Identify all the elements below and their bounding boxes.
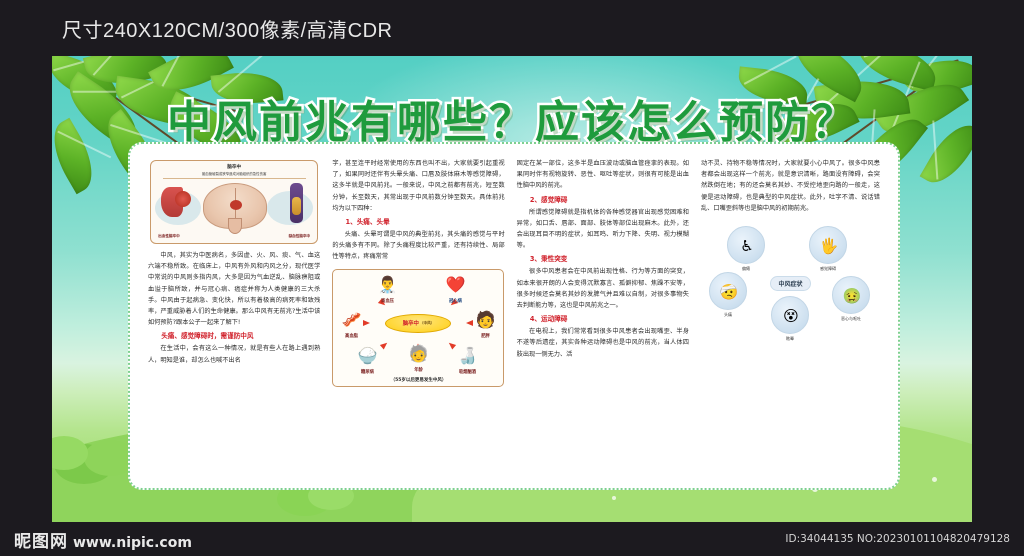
risk-node-label: 冠心病	[435, 298, 475, 304]
site-brand: 昵图网 www.nipic.com	[14, 527, 192, 552]
brain-icon	[203, 183, 267, 229]
brain-diagram-title: 脑卒中	[151, 164, 317, 170]
body-paragraph: 中风，其实为中医病名，多因虚、火、风、痰、气、血这六端不稳所致。在临床上，中风有…	[148, 250, 320, 328]
sparkle-dot	[612, 496, 616, 500]
dizzy-person-icon: 😵	[772, 297, 810, 335]
brain-label-right: 缺血性脑卒中	[289, 234, 311, 239]
heart-icon: ❤️	[440, 273, 470, 297]
risk-center-text: 脑卒中	[403, 319, 419, 327]
risk-node-hyperlipidemia: 🥓 高血脂	[332, 308, 371, 339]
symptom-circle: 🖐	[809, 226, 847, 264]
obese-person-icon: 🧑	[470, 308, 500, 332]
section-heading: 4、运动障碍	[517, 313, 689, 326]
headache-person-icon: 🤕	[710, 273, 748, 311]
symptom-label: 头痛	[705, 312, 751, 318]
risk-factor-diagram: 脑卒中（中风） 👨‍⚕️ 高血压	[332, 269, 504, 387]
size-spec-caption: 尺寸240X120CM/300像素/高清CDR	[0, 0, 1024, 56]
cigarette-bottle-icon: 🍶	[452, 344, 482, 368]
risk-diagram-footnote: （55岁以后更易发生中风）	[333, 377, 503, 383]
body-paragraph: 在电视上，我们常常看到很多中风患者会出现嘴歪、半身不遂等后遗症，其实各种运动障碍…	[517, 326, 689, 360]
risk-node-label: 肥胖	[465, 333, 504, 339]
symptom-circle: 😵	[771, 296, 809, 334]
body-paragraph: 在生活中，会有这么一种情况，就是有些人在路上遇到熟人，明知是谁，却怎么也喊不出名	[148, 343, 320, 365]
risk-node-label: 年龄	[398, 367, 438, 373]
sparkle-dot	[932, 477, 937, 482]
brain-label-left: 出血性脑卒中	[158, 234, 180, 239]
poster-title: 中风前兆有哪些？应该怎么预防？	[52, 86, 972, 150]
brain-stroke-diagram: 脑卒中 脑血管破裂或狭窄造成对脑组织的急性伤害 出血性脑卒中 缺血性脑卒中	[150, 160, 318, 244]
risk-node-label: 高血脂	[332, 333, 371, 339]
symptom-label: 眩晕	[767, 336, 813, 342]
body-paragraph: 固定在某一部位，这多半是血压波动或脑血管痉挛的表现。如果同时伴有视物旋转、恶性、…	[517, 158, 689, 192]
symptom-center-label: 中风症状	[770, 276, 810, 291]
symptom-label: 感觉障碍	[805, 266, 851, 272]
risk-center-sub: （中风）	[420, 321, 434, 326]
content-card: 脑卒中 脑血管破裂或狭窄造成对脑组织的急性伤害 出血性脑卒中 缺血性脑卒中	[128, 142, 900, 490]
asset-id-meta: ID:34044135 NO:20230101104820479128	[785, 533, 1010, 545]
body-paragraph: 所谓感觉障碍就是指机体的各种感觉器官出现感觉困难和异常，如口舌、唇部、面部、肢体…	[517, 207, 689, 252]
risk-node-age: 🧓 年龄	[398, 342, 438, 373]
symptom-circle: ♿	[727, 226, 765, 264]
section-heading: 1、头痛、头晕	[332, 216, 504, 229]
risk-node-obesity: 🧑 肥胖	[465, 308, 504, 339]
risk-node-label: 吸烟酗酒	[447, 369, 487, 375]
nausea-person-icon: 🤢	[833, 277, 871, 315]
divider	[163, 178, 306, 179]
brand-url: www.nipic.com	[73, 535, 192, 551]
brainstem-icon	[228, 218, 242, 234]
ischemia-vessel-icon	[290, 183, 303, 223]
body-paragraph: 动不灵、持物不稳等情况时，大家就要小心中风了。很多中风患者都会出现这样一个前兆，…	[701, 158, 880, 214]
risk-center-label: 脑卒中（中风）	[385, 314, 451, 333]
risk-node-chd: ❤️ 冠心病	[435, 273, 475, 304]
screenshot-root: 尺寸240X120CM/300像素/高清CDR	[0, 0, 1024, 556]
site-footer: 昵图网 www.nipic.com ID:34044135 NO:2023010…	[0, 522, 1024, 556]
body-paragraph: 很多中风患者会在中风前出现性格、行为等方面的突变，如本来很开朗的人会变得沉默寡言…	[517, 266, 689, 311]
elderly-person-icon: 🧓	[403, 342, 433, 366]
stroke-symptom-circles: ♿ 偏瘫 🖐 感觉障碍 🤢 恶心与呕吐	[701, 224, 880, 354]
content-column-4: 动不灵、持物不稳等情况时，大家就要小心中风了。很多中风患者都会出现这样一个前兆，…	[701, 158, 880, 476]
content-column-2: 字，甚至连平时经常使用的东西也叫不出，大家就要引起重视了，如果同时还伴有头晕头痛…	[332, 158, 504, 476]
content-column-3: 固定在某一部位，这多半是血压波动或脑血管痉挛的表现。如果同时伴有视物旋转、恶性、…	[517, 158, 689, 476]
brand-name-cn: 昵图网	[14, 527, 68, 552]
blood-sugar-icon: 🍚	[352, 344, 382, 368]
risk-node-diabetes: 🍚 糖尿病	[347, 344, 387, 375]
section-heading: 3、秉性突变	[517, 253, 689, 266]
content-column-1: 脑卒中 脑血管破裂或狭窄造成对脑组织的急性伤害 出血性脑卒中 缺血性脑卒中	[148, 158, 320, 476]
body-paragraph: 头痛、头晕可谓是中风的典型前兆，其头痛的感觉与平时的头痛多有不同。除了头痛程度比…	[332, 229, 504, 263]
brain-diagram-subtitle: 脑血管破裂或狭窄造成对脑组织的急性伤害	[151, 171, 317, 176]
lesion-icon	[230, 200, 242, 210]
section-heading: 2、感觉障碍	[517, 194, 689, 207]
section-heading: 头痛、感觉障碍时，需谨防中风	[148, 330, 320, 343]
risk-node-label: 糖尿病	[347, 369, 387, 375]
fatty-blood-icon: 🥓	[336, 308, 366, 332]
hand-tingling-icon: 🖐	[810, 227, 848, 265]
hemorrhage-vessel-icon	[161, 187, 183, 217]
risk-node-hypertension: 👨‍⚕️ 高血压	[367, 273, 407, 304]
risk-node-label: 高血压	[367, 298, 407, 304]
risk-node-smoking-drinking: 🍶 吸烟酗酒	[447, 344, 487, 375]
poster-artwork: 中风前兆有哪些？应该怎么预防？ 脑卒	[52, 56, 972, 522]
doctor-patient-bp-icon: 👨‍⚕️	[372, 273, 402, 297]
body-paragraph: 字，甚至连平时经常使用的东西也叫不出，大家就要引起重视了，如果同时还伴有头晕头痛…	[332, 158, 504, 214]
symptom-label: 恶心与呕吐	[828, 316, 874, 322]
symptom-circle: 🤕	[709, 272, 747, 310]
wheelchair-icon: ♿	[728, 227, 766, 265]
symptom-circle: 🤢	[832, 276, 870, 314]
